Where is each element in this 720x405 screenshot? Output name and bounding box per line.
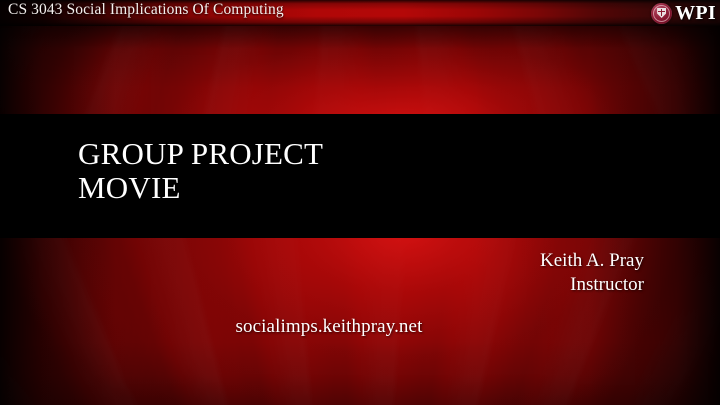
presenter-block: Keith A. Pray Instructor [540, 249, 644, 297]
slide-header-bar: CS 3043 Social Implications Of Computing… [0, 0, 720, 26]
wpi-wordmark: WPI [675, 3, 716, 23]
wpi-logo: WPI [651, 1, 716, 25]
presenter-role: Instructor [540, 273, 644, 297]
presenter-name: Keith A. Pray [540, 249, 644, 273]
wpi-seal-icon [651, 3, 672, 24]
website-url-text: socialimps.keithpray.net [236, 316, 423, 338]
slide-title: GROUP PROJECT MOVIE [78, 137, 323, 205]
vertical-shade-top [0, 26, 720, 114]
course-title: CS 3043 Social Implications Of Computing [8, 1, 284, 19]
presentation-slide: GROUP PROJECT MOVIE Keith A. Pray Instru… [0, 0, 720, 405]
top-background-panel [0, 26, 720, 114]
website-url: socialimps.keithpray.net [0, 316, 720, 338]
